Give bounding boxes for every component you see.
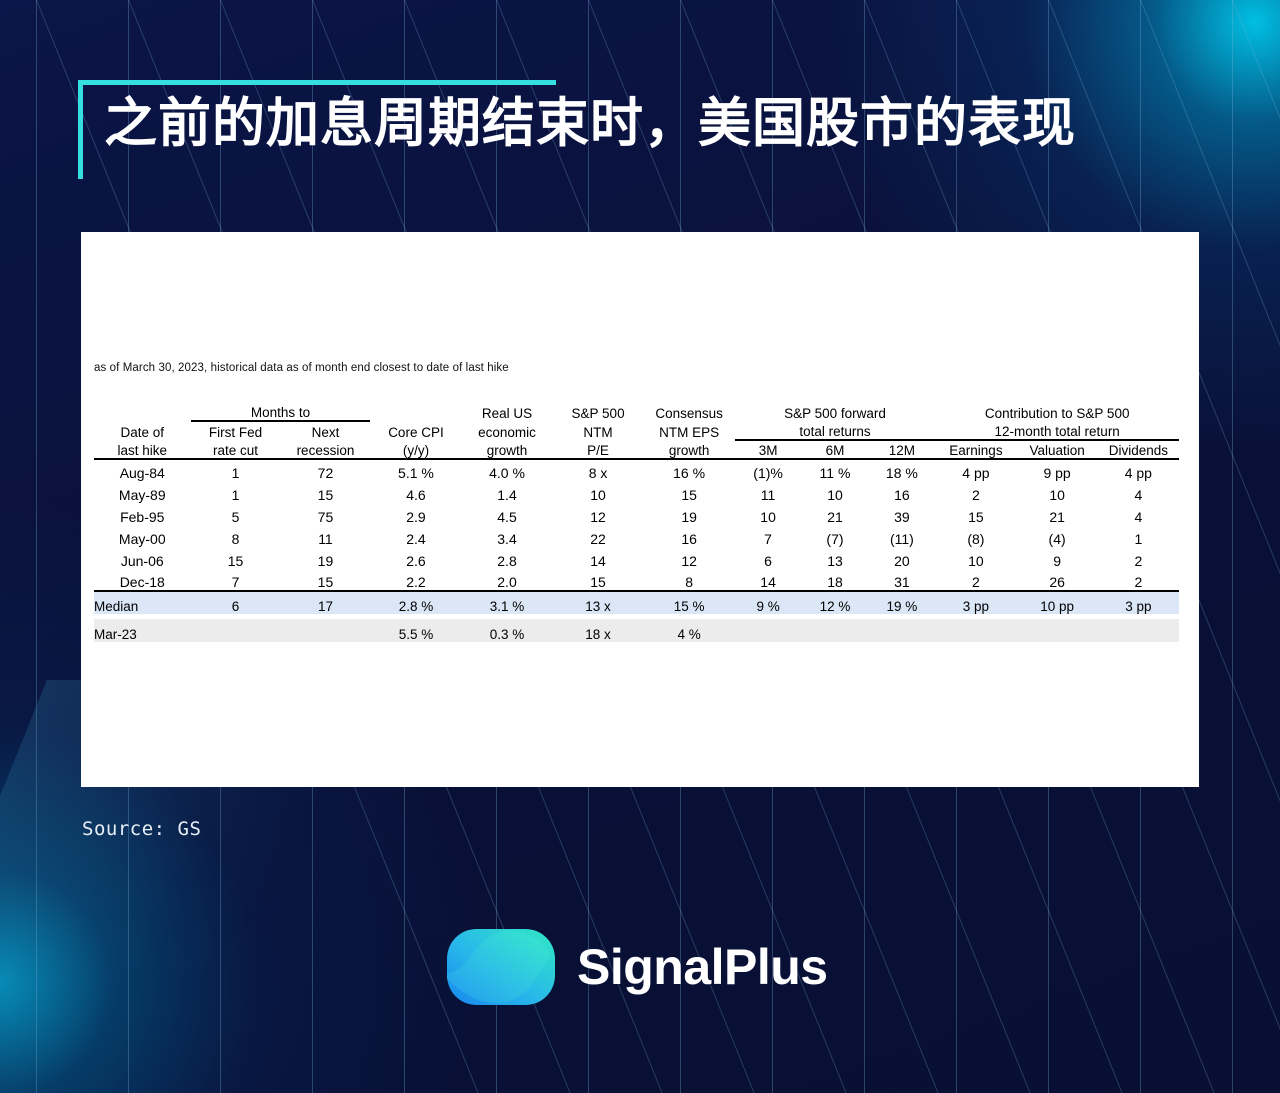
- cell-mar23-recession: [280, 619, 370, 642]
- brand-logo: SignalPlus: [447, 928, 828, 1006]
- cell-aug-84-r6m: 11 %: [802, 459, 869, 481]
- cell-feb-95-r3m: 10: [735, 503, 802, 525]
- subheader-growth: growth: [461, 440, 552, 459]
- cell-aug-84-eps: 16 %: [644, 459, 735, 481]
- cell-may-89-core_cpi: 4.6: [370, 481, 461, 503]
- cell-may-89-recession: 15: [280, 481, 370, 503]
- cell-dec-18-valuation: 26: [1017, 569, 1098, 591]
- cell-may-89-dividends: 4: [1098, 481, 1179, 503]
- source-label: Source: GS: [82, 818, 201, 840]
- group-header-sp500: S&P 500: [553, 402, 644, 421]
- cell-median-r6m: 12 %: [802, 591, 869, 614]
- cell-feb-95-eps: 19: [644, 503, 735, 525]
- cell-feb-95-r12m: 39: [868, 503, 935, 525]
- cell-may-89-r3m: 11: [735, 481, 802, 503]
- cell-jun-06-earnings: 10: [935, 547, 1016, 569]
- subheader-recession: recession: [280, 440, 370, 459]
- group-header-contribution: Contribution to S&P 500: [935, 402, 1179, 421]
- cell-feb-95-core_cpi: 2.9: [370, 503, 461, 525]
- subheader-first-fed: First Fed: [191, 421, 281, 440]
- cell-jun-06-dividends: 2: [1098, 547, 1179, 569]
- cell-aug-84-gdp: 4.0 %: [461, 459, 552, 481]
- table-subheader-row-2: last hike rate cut recession (y/y) growt…: [94, 440, 1179, 459]
- subheader-core-cpi: Core CPI: [370, 421, 461, 440]
- page-title: 之前的加息周期结束时，美国股市的表现: [104, 94, 1076, 155]
- cell-median-date: Median: [94, 591, 191, 614]
- cell-median-valuation: 10 pp: [1017, 591, 1098, 614]
- cell-may-89-date: May-89: [94, 481, 191, 503]
- subheader-date-of: Date of: [94, 421, 191, 440]
- subheader-ntm: NTM: [553, 421, 644, 440]
- cell-jun-06-recession: 19: [280, 547, 370, 569]
- table-row: Dec-187152.22.01581418312262: [94, 569, 1179, 591]
- cell-mar23-r12m: [868, 619, 935, 642]
- cell-may-89-r6m: 10: [802, 481, 869, 503]
- cell-may-89-first_cut: 1: [191, 481, 281, 503]
- cell-may-00-date: May-00: [94, 525, 191, 547]
- cell-aug-84-earnings: 4 pp: [935, 459, 1016, 481]
- cell-feb-95-recession: 75: [280, 503, 370, 525]
- cell-jun-06-date: Jun-06: [94, 547, 191, 569]
- cell-aug-84-recession: 72: [280, 459, 370, 481]
- cell-may-89-valuation: 10: [1017, 481, 1098, 503]
- cell-may-00-recession: 11: [280, 525, 370, 547]
- cell-median-recession: 17: [280, 591, 370, 614]
- cell-mar23-first_cut: [191, 619, 281, 642]
- group-header-blank-2: [370, 402, 461, 421]
- cell-mar23-gdp: 0.3 %: [461, 619, 552, 642]
- cell-dec-18-r12m: 31: [868, 569, 935, 591]
- chart-card: as of March 30, 2023, historical data as…: [81, 232, 1199, 787]
- cell-mar23-pe: 18 x: [553, 619, 644, 642]
- subheader-12-month-total-return: 12-month total return: [935, 421, 1179, 440]
- subheader-3m: 3M: [735, 440, 802, 459]
- cell-dec-18-pe: 15: [553, 569, 644, 591]
- table-row: May-891154.61.410151110162104: [94, 481, 1179, 503]
- cell-median-dividends: 3 pp: [1098, 591, 1179, 614]
- table-group-header-row: Months to Real US S&P 500 Consensus S&P …: [94, 402, 1179, 421]
- cell-may-00-pe: 22: [553, 525, 644, 547]
- subheader-6m: 6M: [802, 440, 869, 459]
- cell-aug-84-core_cpi: 5.1 %: [370, 459, 461, 481]
- subheader-valuation: Valuation: [1017, 440, 1098, 459]
- group-header-sp500-forward: S&P 500 forward: [735, 402, 936, 421]
- cell-dec-18-date: Dec-18: [94, 569, 191, 591]
- cell-feb-95-first_cut: 5: [191, 503, 281, 525]
- cell-feb-95-r6m: 21: [802, 503, 869, 525]
- subheader-yoy: (y/y): [370, 440, 461, 459]
- cell-median-earnings: 3 pp: [935, 591, 1016, 614]
- cell-feb-95-earnings: 15: [935, 503, 1016, 525]
- brand-wordmark: SignalPlus: [577, 938, 828, 996]
- cell-feb-95-date: Feb-95: [94, 503, 191, 525]
- cell-dec-18-r6m: 18: [802, 569, 869, 591]
- cell-jun-06-r12m: 20: [868, 547, 935, 569]
- cell-may-00-first_cut: 8: [191, 525, 281, 547]
- cell-mar23-r3m: [735, 619, 802, 642]
- subheader-dividends: Dividends: [1098, 440, 1179, 459]
- cell-mar23-r6m: [802, 619, 869, 642]
- subheader-rate-cut: rate cut: [191, 440, 281, 459]
- subheader-total-returns: total returns: [735, 421, 936, 440]
- group-header-consensus: Consensus: [644, 402, 735, 421]
- title-accent-bar-horizontal: [78, 80, 556, 85]
- subheader-economic: economic: [461, 421, 552, 440]
- cell-mar23-eps: 4 %: [644, 619, 735, 642]
- cell-jun-06-first_cut: 15: [191, 547, 281, 569]
- cell-aug-84-dividends: 4 pp: [1098, 459, 1179, 481]
- cell-jun-06-eps: 12: [644, 547, 735, 569]
- subheader-12m: 12M: [868, 440, 935, 459]
- cell-may-00-earnings: (8): [935, 525, 1016, 547]
- cell-median-gdp: 3.1 %: [461, 591, 552, 614]
- cell-dec-18-recession: 15: [280, 569, 370, 591]
- cell-aug-84-pe: 8 x: [553, 459, 644, 481]
- title-block: 之前的加息周期结束时，美国股市的表现: [78, 80, 1218, 180]
- cell-dec-18-r3m: 14: [735, 569, 802, 591]
- cell-dec-18-dividends: 2: [1098, 569, 1179, 591]
- cell-jun-06-core_cpi: 2.6: [370, 547, 461, 569]
- cell-may-89-eps: 15: [644, 481, 735, 503]
- table-row: Aug-841725.1 %4.0 %8 x16 %(1)%11 %18 %4 …: [94, 459, 1179, 481]
- cell-jun-06-gdp: 2.8: [461, 547, 552, 569]
- cell-feb-95-pe: 12: [553, 503, 644, 525]
- group-header-blank-1: [94, 402, 191, 421]
- cell-may-00-eps: 16: [644, 525, 735, 547]
- cell-median-core_cpi: 2.8 %: [370, 591, 461, 614]
- cell-may-89-gdp: 1.4: [461, 481, 552, 503]
- cell-mar23-valuation: [1017, 619, 1098, 642]
- cell-jun-06-r3m: 6: [735, 547, 802, 569]
- table-row: Jun-0615192.62.81412613201092: [94, 547, 1179, 569]
- cell-aug-84-date: Aug-84: [94, 459, 191, 481]
- cell-aug-84-r12m: 18 %: [868, 459, 935, 481]
- cell-median-first_cut: 6: [191, 591, 281, 614]
- table-row: May-008112.43.422167(7)(11)(8)(4)1: [94, 525, 1179, 547]
- cell-may-00-gdp: 3.4: [461, 525, 552, 547]
- table-row-current: Mar-235.5 %0.3 %18 x4 %: [94, 619, 1179, 642]
- subheader-earnings: Earnings: [935, 440, 1016, 459]
- table-body: Aug-841725.1 %4.0 %8 x16 %(1)%11 %18 %4 …: [94, 459, 1179, 642]
- cell-may-00-r6m: (7): [802, 525, 869, 547]
- cell-may-89-r12m: 16: [868, 481, 935, 503]
- table-row-median: Median6172.8 %3.1 %13 x15 %9 %12 %19 %3 …: [94, 591, 1179, 614]
- cell-median-r12m: 19 %: [868, 591, 935, 614]
- cell-dec-18-first_cut: 7: [191, 569, 281, 591]
- cell-median-r3m: 9 %: [735, 591, 802, 614]
- table-row: Feb-955752.94.5121910213915214: [94, 503, 1179, 525]
- cell-median-eps: 15 %: [644, 591, 735, 614]
- cell-aug-84-r3m: (1)%: [735, 459, 802, 481]
- subheader-growth-2: growth: [644, 440, 735, 459]
- signalplus-logo-icon: [447, 929, 555, 1005]
- cell-mar23-core_cpi: 5.5 %: [370, 619, 461, 642]
- chart-note: as of March 30, 2023, historical data as…: [94, 362, 509, 374]
- cell-jun-06-r6m: 13: [802, 547, 869, 569]
- performance-table: Months to Real US S&P 500 Consensus S&P …: [94, 402, 1179, 642]
- cell-dec-18-gdp: 2.0: [461, 569, 552, 591]
- title-accent-bar-vertical: [78, 82, 83, 179]
- cell-feb-95-dividends: 4: [1098, 503, 1179, 525]
- table-subheader-row-1: Date of First Fed Next Core CPI economic…: [94, 421, 1179, 440]
- cell-jun-06-valuation: 9: [1017, 547, 1098, 569]
- cell-may-00-r12m: (11): [868, 525, 935, 547]
- cell-may-00-core_cpi: 2.4: [370, 525, 461, 547]
- cell-dec-18-eps: 8: [644, 569, 735, 591]
- group-header-months-to: Months to: [191, 402, 371, 421]
- cell-feb-95-gdp: 4.5: [461, 503, 552, 525]
- cell-dec-18-earnings: 2: [935, 569, 1016, 591]
- subheader-pe: P/E: [553, 440, 644, 459]
- cell-mar23-date: Mar-23: [94, 619, 191, 642]
- cell-mar23-earnings: [935, 619, 1016, 642]
- cell-feb-95-valuation: 21: [1017, 503, 1098, 525]
- cell-may-00-r3m: 7: [735, 525, 802, 547]
- subheader-last-hike: last hike: [94, 440, 191, 459]
- cell-may-00-valuation: (4): [1017, 525, 1098, 547]
- cell-mar23-dividends: [1098, 619, 1179, 642]
- cell-may-89-earnings: 2: [935, 481, 1016, 503]
- cell-aug-84-valuation: 9 pp: [1017, 459, 1098, 481]
- subheader-ntm-eps: NTM EPS: [644, 421, 735, 440]
- cell-may-00-dividends: 1: [1098, 525, 1179, 547]
- cell-median-pe: 13 x: [553, 591, 644, 614]
- subheader-next: Next: [280, 421, 370, 440]
- cell-dec-18-core_cpi: 2.2: [370, 569, 461, 591]
- cell-aug-84-first_cut: 1: [191, 459, 281, 481]
- cell-jun-06-pe: 14: [553, 547, 644, 569]
- background-vertical-line: [1232, 0, 1233, 1093]
- group-header-real-us: Real US: [461, 402, 552, 421]
- cell-may-89-pe: 10: [553, 481, 644, 503]
